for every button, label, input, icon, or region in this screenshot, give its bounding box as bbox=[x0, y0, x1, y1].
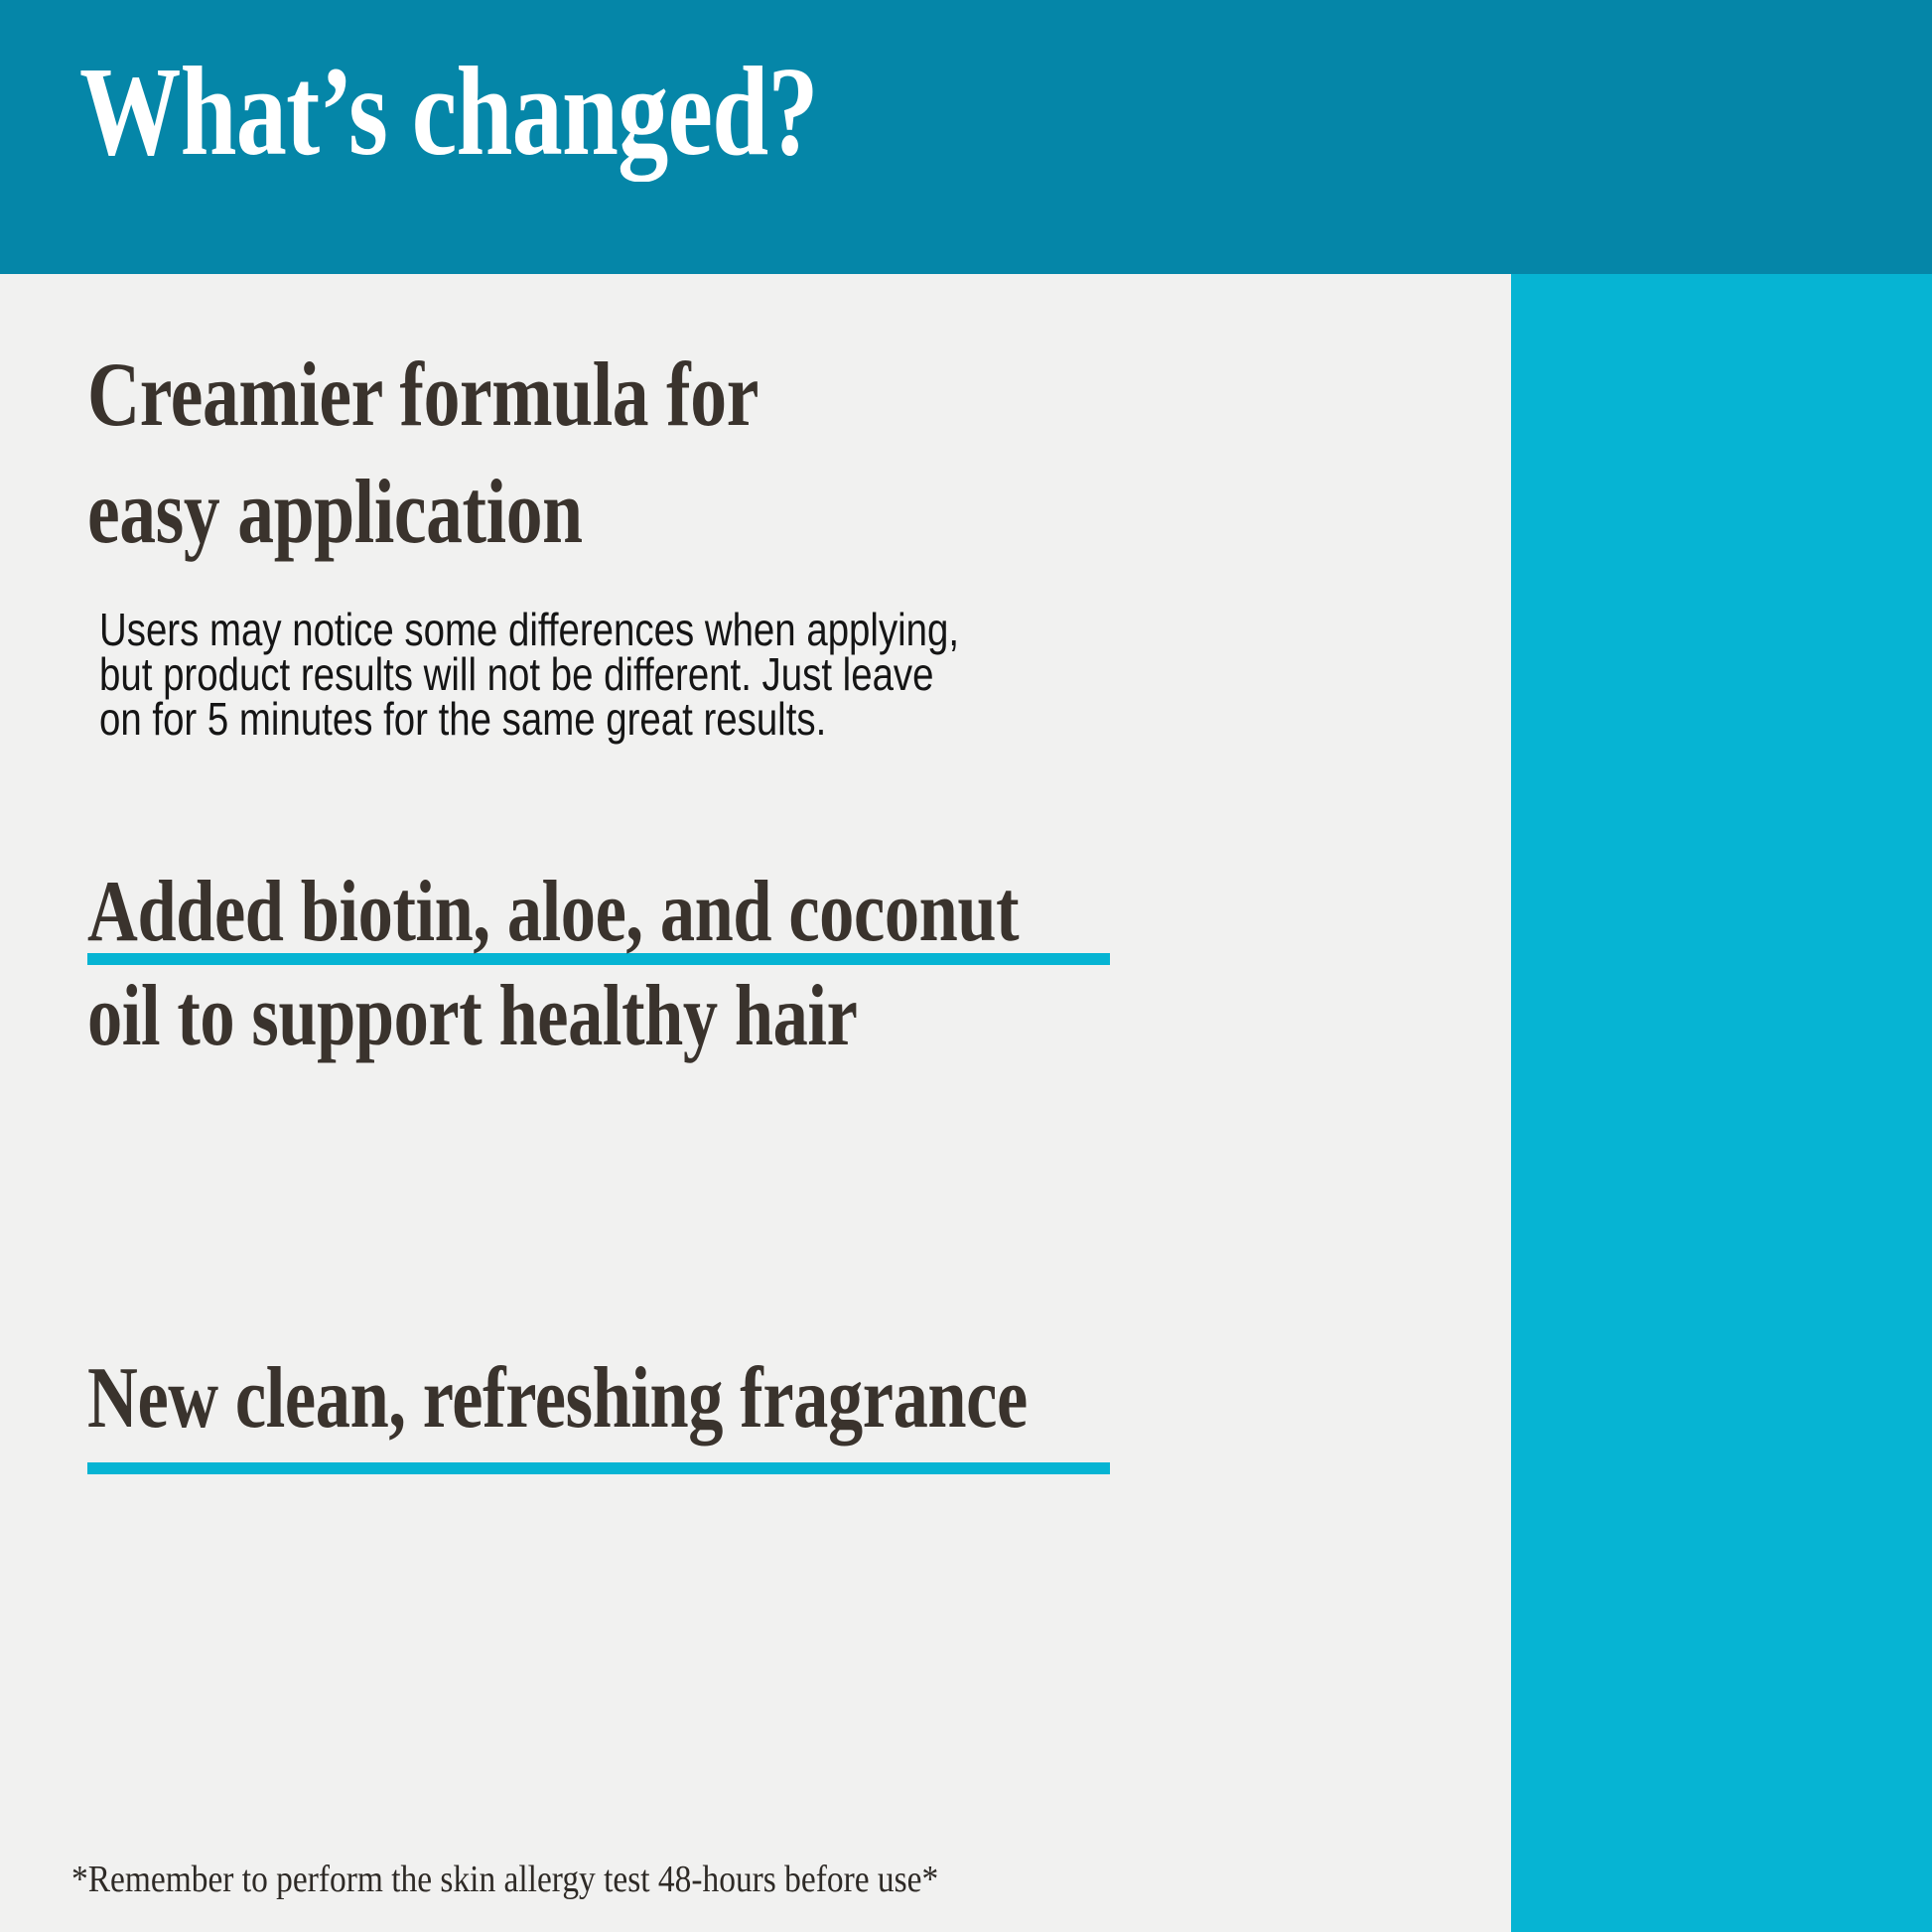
header-bar: What’s changed? bbox=[0, 0, 1932, 274]
section-heading: Creamier formula for easy application bbox=[87, 336, 1226, 570]
section-added-biotin: Added biotin, aloe, and coconut oil to s… bbox=[0, 860, 1511, 1068]
right-accent-column bbox=[1511, 274, 1932, 1932]
main-content: Creamier formula for easy application Us… bbox=[0, 274, 1511, 1932]
page-title: What’s changed? bbox=[79, 48, 818, 175]
poster-canvas: What’s changed? Creamier formula for eas… bbox=[0, 0, 1932, 1932]
footnote-disclaimer: *Remember to perform the skin allergy te… bbox=[71, 1857, 938, 1902]
section-new-fragrance: New clean, refreshing fragrance bbox=[0, 1346, 1511, 1450]
section-heading: New clean, refreshing fragrance bbox=[87, 1346, 1226, 1450]
section-creamier-formula: Creamier formula for easy application Us… bbox=[0, 336, 1511, 742]
section-divider-2 bbox=[87, 1462, 1110, 1474]
section-body-text: Users may notice some differences when a… bbox=[99, 608, 1278, 742]
section-heading: Added biotin, aloe, and coconut oil to s… bbox=[87, 860, 1226, 1068]
